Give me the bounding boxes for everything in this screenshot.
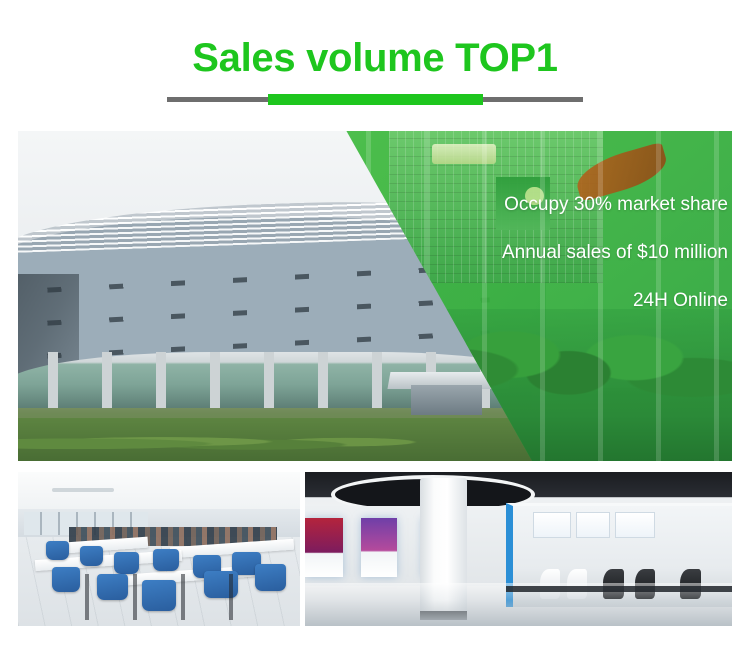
banner-text-block: Occupy 30% market share Annual sales of … — [308, 193, 728, 337]
wall-chart — [576, 512, 610, 538]
photo-row — [18, 472, 732, 626]
blue-seat — [114, 552, 139, 574]
blue-seat — [153, 549, 178, 571]
heading-block: Sales volume TOP1 — [0, 0, 750, 128]
wall-chart — [615, 512, 655, 538]
banner-line: Annual sales of $10 million — [308, 241, 728, 265]
page-title: Sales volume TOP1 — [0, 34, 750, 82]
entrance-doors — [411, 385, 482, 415]
photo-showroom — [305, 472, 732, 626]
title-underline-green — [268, 94, 483, 105]
banner-line: Occupy 30% market share — [308, 193, 728, 217]
blue-seat — [80, 546, 103, 566]
blue-seat — [46, 541, 69, 559]
photo-cafeteria — [18, 472, 300, 626]
wall-chart — [533, 512, 571, 538]
banner-line: 24H Online — [308, 289, 728, 313]
lightbox-poster — [361, 518, 397, 577]
floor-edge-strip — [506, 586, 732, 592]
lightbox-poster — [305, 518, 343, 577]
table-legs — [41, 574, 267, 620]
hero-banner: Occupy 30% market share Annual sales of … — [18, 131, 732, 461]
